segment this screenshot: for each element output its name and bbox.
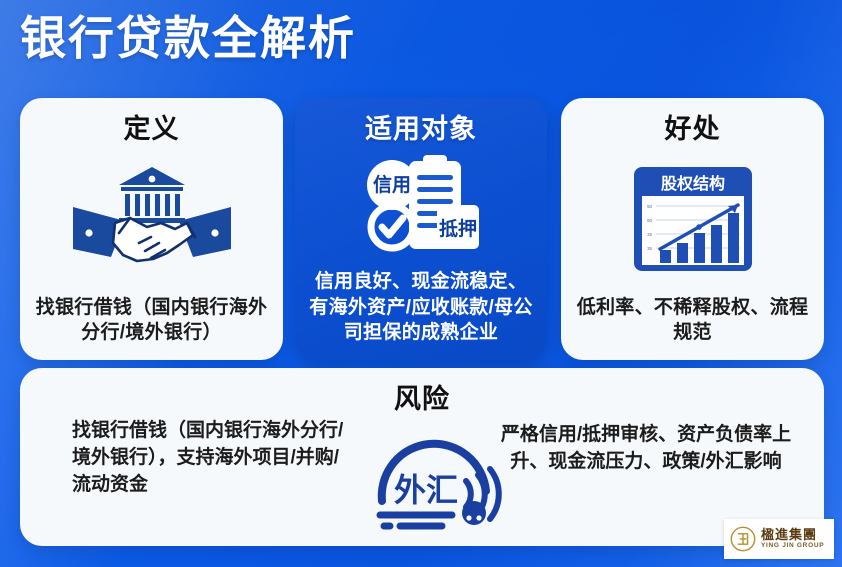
equity-bar-chart-icon: 股权结构 50 60 25 35 — [632, 165, 754, 273]
card-definition-body: 找银行借钱（国内银行海外分行/境外银行） — [32, 295, 271, 346]
card-benefits-body: 低利率、不稀释股权、流程规范 — [573, 295, 812, 346]
card-definition-heading: 定义 — [124, 116, 180, 143]
card-audience: 适用对象 信 — [295, 98, 547, 360]
card-benefits-heading: 好处 — [665, 116, 721, 143]
chart-tick-2: 25 — [647, 232, 652, 237]
card-risk-body-right: 严格信用/抵押审核、资产负债率上升、现金流压力、政策/外汇影响 — [496, 422, 796, 476]
brand-logo: 楹進集團 YING JIN GROUP — [724, 519, 834, 559]
chart-tick-0: 50 — [647, 204, 652, 209]
icon-label-collateral: 抵押 — [439, 217, 477, 240]
card-definition: 定义 — [20, 98, 283, 360]
page-title: 银行贷款全解析 — [20, 10, 356, 68]
card-definition-inner: 定义 — [20, 98, 283, 360]
chart-icon-title: 股权结构 — [660, 174, 724, 193]
brand-name-en: YING JIN GROUP — [761, 543, 824, 550]
card-audience-heading: 适用对象 — [365, 116, 477, 143]
card-audience-icon-slot: 信用 抵押 — [307, 143, 535, 269]
card-benefits-inner: 好处 股权结构 50 60 25 — [561, 98, 824, 360]
icon-label-forex: 外汇 — [394, 472, 458, 508]
card-risk-heading: 风险 — [20, 386, 824, 413]
poster-canvas: 银行贷款全解析 定义 — [0, 0, 842, 567]
chart-tick-1: 60 — [647, 218, 652, 223]
card-audience-body: 信用良好、现金流稳定、有海外资产/应收账款/母公司担保的成熟企业 — [307, 269, 535, 346]
chart-tick-3: 35 — [647, 246, 652, 251]
bank-handshake-icon — [67, 163, 237, 275]
credit-clipboard-icon: 信用 抵押 — [361, 153, 481, 259]
card-risk-body-left: 找银行借钱（国内银行海外分行/境外银行），支持海外项目/并购/流动资金 — [72, 418, 354, 499]
brand-name-cn: 楹進集團 — [761, 528, 824, 541]
card-benefits-icon-slot: 股权结构 50 60 25 35 — [573, 143, 812, 295]
brand-logo-text: 楹進集團 YING JIN GROUP — [761, 528, 824, 550]
icon-label-credit: 信用 — [373, 173, 411, 196]
card-audience-inner: 适用对象 信 — [295, 98, 547, 360]
card-risk: 风险 找银行借钱（国内银行海外分行/境外银行），支持海外项目/并购/流动资金 外… — [20, 368, 824, 546]
card-definition-icon-slot — [32, 143, 271, 295]
yj-monogram-icon — [730, 526, 756, 552]
card-benefits: 好处 股权结构 50 60 25 — [561, 98, 824, 360]
